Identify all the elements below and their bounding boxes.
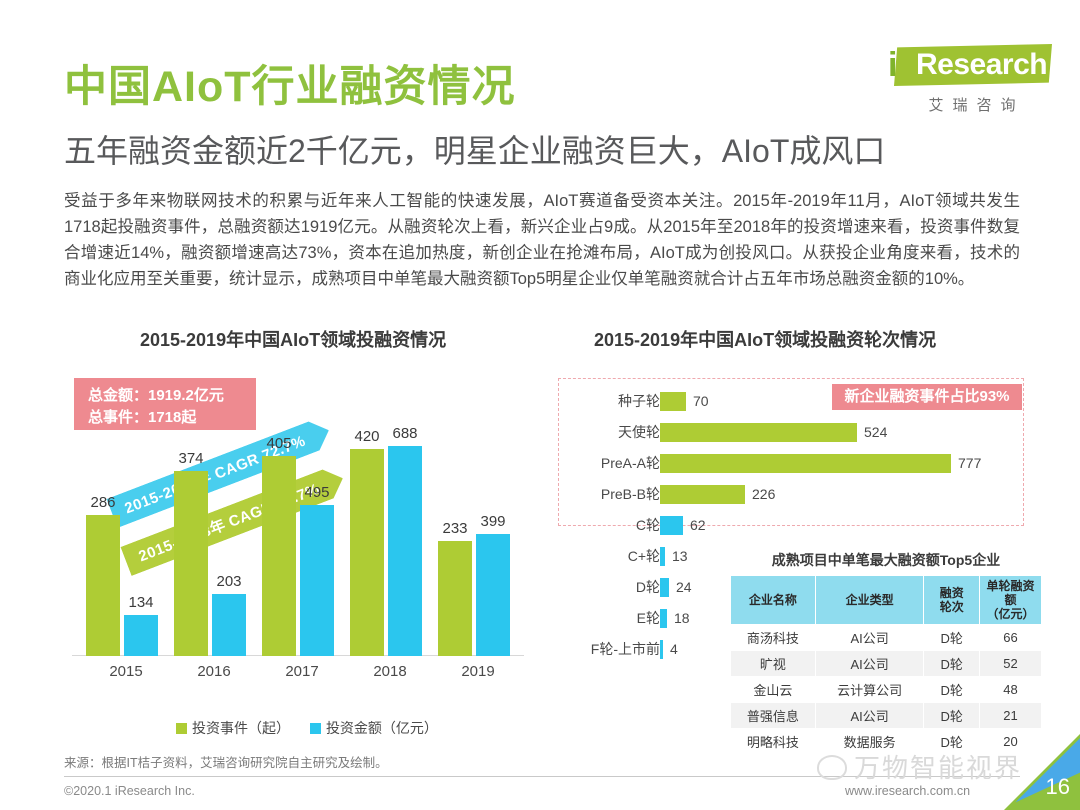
new-enterprise-banner: 新企业融资事件占比93% <box>832 384 1022 410</box>
x-axis-label: 2016 <box>170 663 258 680</box>
round-label: C轮 <box>564 510 660 540</box>
round-label: 种子轮 <box>564 386 660 416</box>
round-value: 777 <box>958 448 981 478</box>
round-bar <box>660 392 686 411</box>
table-row: 金山云云计算公司D轮48 <box>731 677 1042 703</box>
bar-value-amount: 688 <box>382 425 428 442</box>
funding-rounds-chart: 新企业融资事件占比93% 种子轮70天使轮524PreA-A轮777PreB-B… <box>540 360 1040 730</box>
th-amount: 单轮融资额 （亿元） <box>980 576 1042 625</box>
cell-type: 云计算公司 <box>815 677 924 703</box>
x-axis-label: 2018 <box>346 663 434 680</box>
cell-round: D轮 <box>924 651 980 677</box>
bar-value-amount: 399 <box>470 513 516 530</box>
round-value: 226 <box>752 479 775 509</box>
right-chart-title: 2015-2019年中国AIoT领域投融资轮次情况 <box>594 326 936 352</box>
cell-type: AI公司 <box>815 703 924 729</box>
round-bar <box>660 423 857 442</box>
bar-events <box>174 471 208 656</box>
top5-title: 成熟项目中单笔最大融资额Top5企业 <box>730 550 1042 570</box>
bar-amount <box>476 534 510 656</box>
cell-company: 明略科技 <box>731 729 816 755</box>
x-axis-label: 2017 <box>258 663 346 680</box>
logo-i-mark: i <box>888 46 897 84</box>
table-row: 旷视AI公司D轮52 <box>731 651 1042 677</box>
page-title: 中国AIoT行业融资情况 <box>64 52 516 114</box>
wechat-icon <box>817 755 847 780</box>
th-amount-line1: 单轮融资额 <box>986 579 1034 607</box>
round-label: PreB-B轮 <box>564 479 660 509</box>
legend-label-events: 投资事件（起） <box>192 720 290 736</box>
cell-company: 旷视 <box>731 651 816 677</box>
th-round-line1: 融资 <box>940 586 964 600</box>
wechat-watermark: 万物智能视界 <box>817 748 1022 785</box>
round-bar <box>660 516 683 535</box>
bar-events <box>438 541 472 656</box>
cell-round: D轮 <box>924 625 980 651</box>
logo-chinese-name: 艾瑞咨询 <box>882 94 1062 115</box>
round-label: F轮-上市前 <box>564 634 660 664</box>
round-label: 天使轮 <box>564 417 660 447</box>
cell-type: AI公司 <box>815 651 924 677</box>
table-row: 商汤科技AI公司D轮66 <box>731 625 1042 651</box>
x-axis-label: 2015 <box>82 663 170 680</box>
th-amount-line2: （亿元） <box>986 607 1034 621</box>
cell-round: D轮 <box>924 703 980 729</box>
logo-wordmark: Research <box>916 46 1047 84</box>
bar-amount <box>124 615 158 656</box>
cell-company: 普强信息 <box>731 703 816 729</box>
page-subtitle: 五年融资金额近2千亿元，明星企业融资巨大，AIoT成风口 <box>64 126 885 172</box>
bar-value-amount: 203 <box>206 573 252 590</box>
round-label: C+轮 <box>564 541 660 571</box>
round-bar <box>660 485 745 504</box>
slide-page: i Research 艾瑞咨询 中国AIoT行业融资情况 五年融资金额近2千亿元… <box>0 0 1080 810</box>
left-plot-area: 2861342015374203201640549520174206882018… <box>64 390 534 690</box>
left-chart-title: 2015-2019年中国AIoT领域投融资情况 <box>140 326 446 352</box>
table-header-row: 企业名称 企业类型 融资 轮次 单轮融资额 （亿元） <box>731 576 1042 625</box>
bar-amount <box>300 505 334 656</box>
round-value: 70 <box>693 386 709 416</box>
bar-value-amount: 495 <box>294 484 340 501</box>
bar-events <box>350 449 384 656</box>
legend-swatch-amount <box>310 723 321 734</box>
th-round: 融资 轮次 <box>924 576 980 625</box>
round-bar <box>660 547 665 566</box>
cell-type: AI公司 <box>815 625 924 651</box>
website-url[interactable]: www.iresearch.com.cn <box>845 784 970 798</box>
cell-company: 商汤科技 <box>731 625 816 651</box>
copyright-text: ©2020.1 iResearch Inc. <box>64 784 195 798</box>
cell-amount: 66 <box>980 625 1042 651</box>
th-company: 企业名称 <box>731 576 816 625</box>
cell-round: D轮 <box>924 677 980 703</box>
round-value: 62 <box>690 510 706 540</box>
cell-company: 金山云 <box>731 677 816 703</box>
bar-events <box>86 515 120 656</box>
bar-amount <box>388 446 422 656</box>
cell-amount: 48 <box>980 677 1042 703</box>
bar-value-events: 286 <box>80 494 126 511</box>
round-value: 24 <box>676 572 692 602</box>
source-note: 来源：根据IT桔子资料，艾瑞咨询研究院自主研究及绘制。 <box>64 752 388 771</box>
round-value: 13 <box>672 541 688 571</box>
left-chart-legend: 投资事件（起） 投资金额（亿元） <box>64 718 534 738</box>
x-axis-label: 2019 <box>434 663 522 680</box>
page-number: 16 <box>1046 774 1070 800</box>
bar-value-amount: 134 <box>118 594 164 611</box>
round-label: E轮 <box>564 603 660 633</box>
legend-label-amount: 投资金额（亿元） <box>326 720 438 736</box>
bar-events <box>262 456 296 656</box>
round-bar <box>660 578 669 597</box>
bar-amount <box>212 594 246 656</box>
logo-badge: i Research <box>882 44 1062 90</box>
legend-swatch-events <box>176 723 187 734</box>
body-paragraph: 受益于多年来物联网技术的积累与近年来人工智能的快速发展，AIoT赛道备受资本关注… <box>64 188 1020 292</box>
investment-bar-chart: 总金额：1919.2亿元 总事件：1718起 2015-2018年 CAGR 7… <box>64 360 534 730</box>
cell-amount: 52 <box>980 651 1042 677</box>
round-value: 18 <box>674 603 690 633</box>
page-corner-decoration: 16 <box>994 724 1080 810</box>
bar-value-events: 405 <box>256 435 302 452</box>
round-bar <box>660 454 951 473</box>
bar-value-events: 374 <box>168 450 214 467</box>
round-value: 4 <box>670 634 678 664</box>
round-label: D轮 <box>564 572 660 602</box>
iresearch-logo: i Research 艾瑞咨询 <box>882 44 1062 115</box>
round-label: PreA-A轮 <box>564 448 660 478</box>
th-round-line2: 轮次 <box>940 600 964 614</box>
round-value: 524 <box>864 417 887 447</box>
th-type: 企业类型 <box>815 576 924 625</box>
round-bar <box>660 609 667 628</box>
round-bar <box>660 640 663 659</box>
